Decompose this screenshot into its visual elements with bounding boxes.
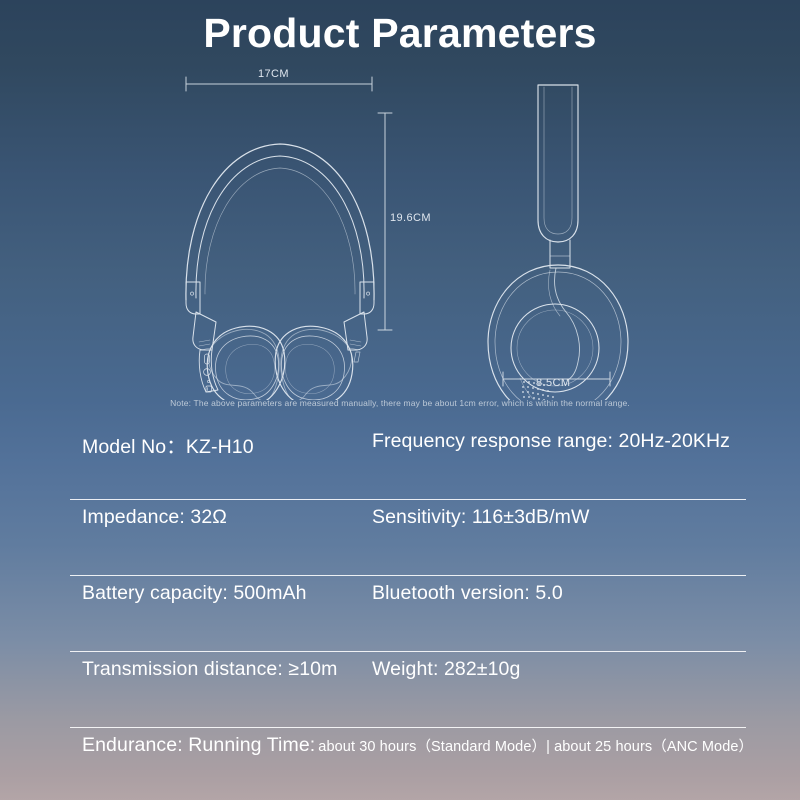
dimension-width-label: 17CM <box>258 68 289 80</box>
dimension-depth-label: 8.5CM <box>536 377 570 389</box>
product-parameters-page: Product Parameters <box>0 0 800 800</box>
table-row: Transmission distance: ≥10m Weight: 282±… <box>70 652 746 728</box>
table-row: Model No：KZ-H10 Frequency response range… <box>70 424 746 500</box>
spec-battery-capacity: Battery capacity: 500mAh <box>82 582 372 605</box>
table-row: Endurance: Running Time: about 30 hours（… <box>70 728 746 800</box>
product-illustration <box>0 60 800 400</box>
table-row: Impedance: 32Ω Sensitivity: 116±3dB/mW <box>70 500 746 576</box>
spec-endurance-detail: about 30 hours（Standard Mode）| about 25 … <box>315 735 753 756</box>
spec-endurance-label: Endurance: Running Time: <box>82 734 315 757</box>
spec-sensitivity: Sensitivity: 116±3dB/mW <box>372 506 746 529</box>
page-title: Product Parameters <box>0 10 800 57</box>
spec-impedance: Impedance: 32Ω <box>82 506 372 529</box>
table-row: Battery capacity: 500mAh Bluetooth versi… <box>70 576 746 652</box>
measurement-note: Note: The above parameters are measured … <box>0 398 800 408</box>
spec-bluetooth-version: Bluetooth version: 5.0 <box>372 582 746 605</box>
spec-weight: Weight: 282±10g <box>372 658 746 681</box>
spec-table: Model No：KZ-H10 Frequency response range… <box>70 424 746 800</box>
dimension-height-label: 19.6CM <box>390 212 431 224</box>
spec-model-no: Model No：KZ-H10 <box>82 430 372 459</box>
spec-transmission-distance: Transmission distance: ≥10m <box>82 658 372 681</box>
spec-frequency-response: Frequency response range: 20Hz-20KHz <box>372 430 746 453</box>
